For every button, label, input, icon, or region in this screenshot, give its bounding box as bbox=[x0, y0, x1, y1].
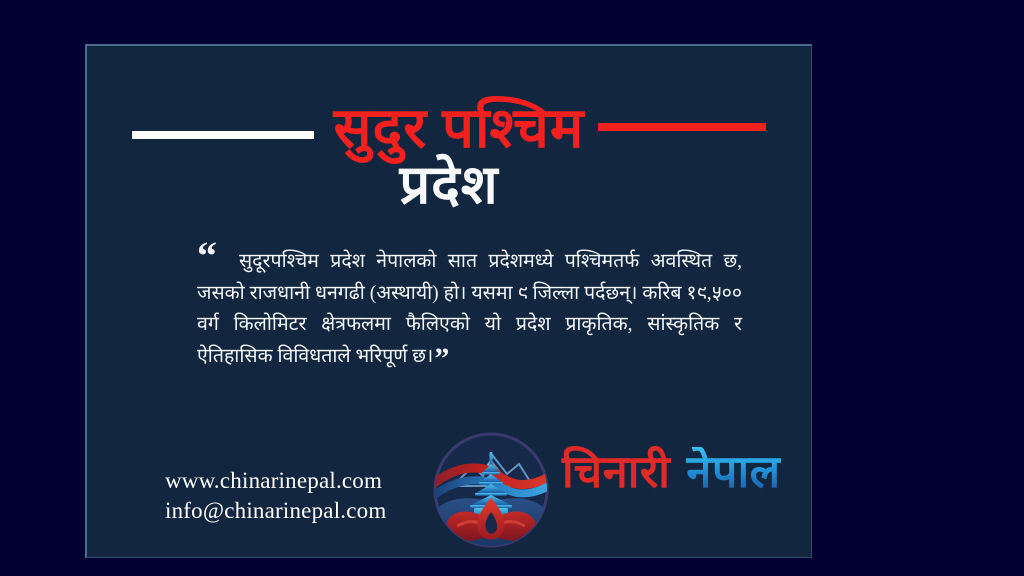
quote-block: “ सुदूरपश्चिम प्रदेश नेपालको सात प्रदेशम… bbox=[197, 246, 742, 372]
email-address[interactable]: info@chinarinepal.com bbox=[165, 496, 386, 526]
website-url[interactable]: www.chinarinepal.com bbox=[165, 466, 386, 496]
quote-body-text: सुदूरपश्चिम प्रदेश नेपालको सात प्रदेशमध्… bbox=[197, 251, 742, 367]
content-panel: सुदुर पश्चिम प्रदेश “ सुदूरपश्चिम प्रदेश… bbox=[85, 44, 812, 558]
page-title-line1: सुदुर पश्चिम bbox=[334, 101, 585, 157]
brand-name-chinari: चिनारी bbox=[562, 447, 670, 497]
quote-close-icon: ” bbox=[434, 342, 449, 375]
title-rule-left bbox=[132, 131, 314, 139]
quote-open-icon: “ bbox=[197, 236, 217, 276]
contact-block: www.chinarinepal.com info@chinarinepal.c… bbox=[165, 466, 386, 527]
brand-wordmark: चिनारीनेपाल bbox=[562, 450, 781, 495]
quote-paragraph: सुदूरपश्चिम प्रदेश नेपालको सात प्रदेशमध्… bbox=[197, 246, 742, 372]
page-title-line2: प्रदेश bbox=[87, 158, 811, 212]
brand-row: www.chinarinepal.com info@chinarinepal.c… bbox=[87, 418, 811, 558]
title-rule-right bbox=[598, 123, 766, 131]
slide-canvas: सुदुर पश्चिम प्रदेश “ सुदूरपश्चिम प्रदेश… bbox=[0, 0, 1024, 576]
chinari-nepal-emblem-icon bbox=[427, 426, 555, 554]
brand-name-nepal: नेपाल bbox=[686, 447, 780, 497]
